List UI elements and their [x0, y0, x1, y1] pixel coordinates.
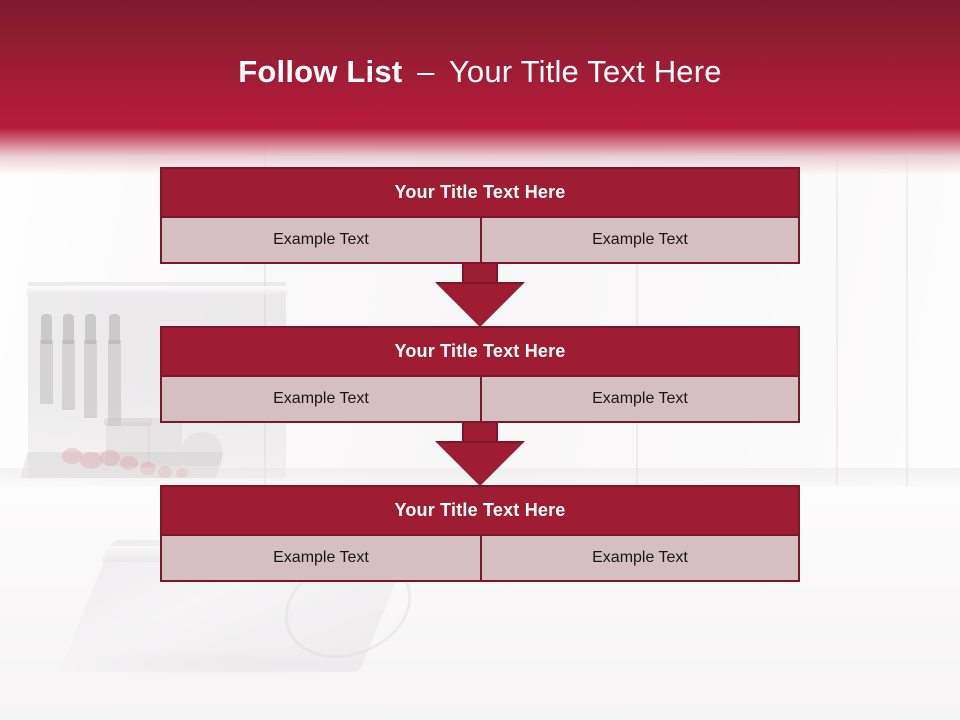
- follow-list-flow: Your Title Text Here Example Text Exampl…: [160, 167, 800, 582]
- connector-1: [160, 264, 800, 326]
- flow-node-3-cells: Example Text Example Text: [160, 536, 800, 582]
- flow-node-1-heading: Your Title Text Here: [160, 167, 800, 218]
- flow-node-2[interactable]: Your Title Text Here Example Text Exampl…: [160, 326, 800, 423]
- arrow-head: [437, 443, 523, 485]
- flow-node-1-cell-1[interactable]: Example Text: [162, 218, 480, 262]
- page-title-separator: –: [411, 54, 440, 89]
- page-title-strong: Follow List: [238, 54, 402, 89]
- arrow-head: [437, 284, 523, 326]
- flow-node-3-cell-1[interactable]: Example Text: [162, 536, 480, 580]
- flow-node-2-cells: Example Text Example Text: [160, 377, 800, 423]
- flow-node-2-heading: Your Title Text Here: [160, 326, 800, 377]
- flow-node-2-cell-1[interactable]: Example Text: [162, 377, 480, 421]
- slide-canvas: Follow List – Your Title Text Here Your …: [0, 0, 960, 720]
- page-title: Follow List – Your Title Text Here: [0, 52, 960, 92]
- flow-node-1[interactable]: Your Title Text Here Example Text Exampl…: [160, 167, 800, 264]
- flow-node-2-cell-2[interactable]: Example Text: [480, 377, 798, 421]
- flow-node-3[interactable]: Your Title Text Here Example Text Exampl…: [160, 485, 800, 582]
- page-title-rest: Your Title Text Here: [449, 54, 722, 89]
- flow-node-1-cell-2[interactable]: Example Text: [480, 218, 798, 262]
- down-arrow-icon: [437, 264, 523, 326]
- flow-node-1-cells: Example Text Example Text: [160, 218, 800, 264]
- connector-2: [160, 423, 800, 485]
- flow-node-3-heading: Your Title Text Here: [160, 485, 800, 536]
- flow-node-3-cell-2[interactable]: Example Text: [480, 536, 798, 580]
- down-arrow-icon: [437, 423, 523, 485]
